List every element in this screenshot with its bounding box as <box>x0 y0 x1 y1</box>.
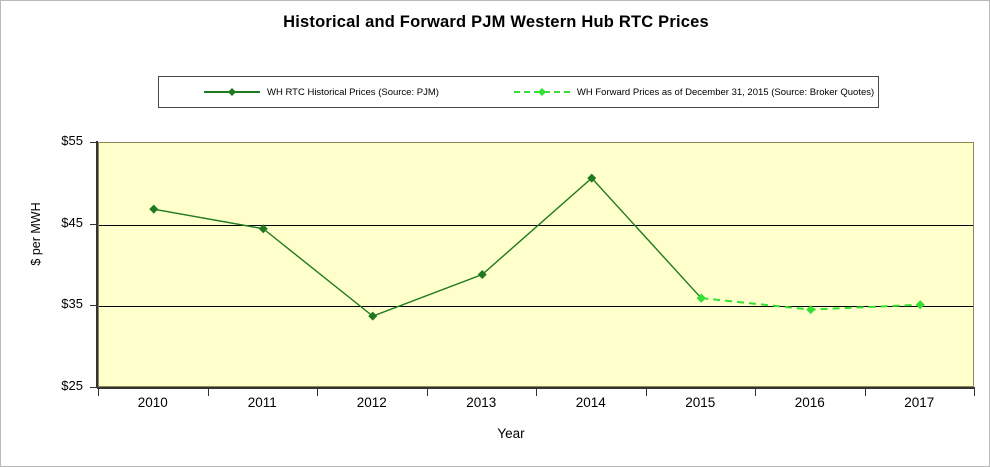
y-axis-line <box>96 141 98 388</box>
legend-label-historical: WH RTC Historical Prices (Source: PJM) <box>267 87 439 98</box>
legend-key-historical-icon <box>204 86 260 98</box>
y-axis-tick-label: $25 <box>23 378 83 393</box>
x-axis-tick-label: 2016 <box>755 395 865 410</box>
y-axis-tick <box>90 387 98 388</box>
y-axis-tick <box>90 305 98 306</box>
y-axis-tick-label: $35 <box>23 296 83 311</box>
y-axis-tick-label: $55 <box>23 133 83 148</box>
chart-title: Historical and Forward PJM Western Hub R… <box>1 13 990 32</box>
y-axis-title: $ per MWH <box>29 174 43 294</box>
diamond-marker-icon <box>538 88 546 96</box>
legend-item-forward[interactable]: WH Forward Prices as of December 31, 201… <box>514 86 874 98</box>
x-axis-title: Year <box>1 426 990 441</box>
y-axis-tick <box>90 224 98 225</box>
plot-area <box>98 142 974 387</box>
data-point-marker <box>916 300 925 309</box>
legend-key-forward-icon <box>514 86 570 98</box>
series-line-0 <box>154 178 702 316</box>
legend-label-forward: WH Forward Prices as of December 31, 201… <box>577 87 874 98</box>
x-axis-tick-label: 2017 <box>864 395 974 410</box>
x-axis-tick-label: 2013 <box>426 395 536 410</box>
x-axis-tick-label: 2015 <box>645 395 755 410</box>
x-axis-tick-label: 2012 <box>317 395 427 410</box>
x-axis-tick-label: 2011 <box>207 395 317 410</box>
x-axis-tick-label: 2014 <box>536 395 646 410</box>
chart-container: Historical and Forward PJM Western Hub R… <box>0 0 990 467</box>
x-axis-tick-label: 2010 <box>98 395 208 410</box>
series-layer <box>99 143 975 388</box>
y-axis-tick <box>90 142 98 143</box>
legend-item-historical[interactable]: WH RTC Historical Prices (Source: PJM) <box>204 86 439 98</box>
data-point-marker <box>149 205 158 214</box>
diamond-marker-icon <box>228 88 236 96</box>
chart-legend: WH RTC Historical Prices (Source: PJM) W… <box>158 76 879 108</box>
data-point-marker <box>806 305 815 314</box>
